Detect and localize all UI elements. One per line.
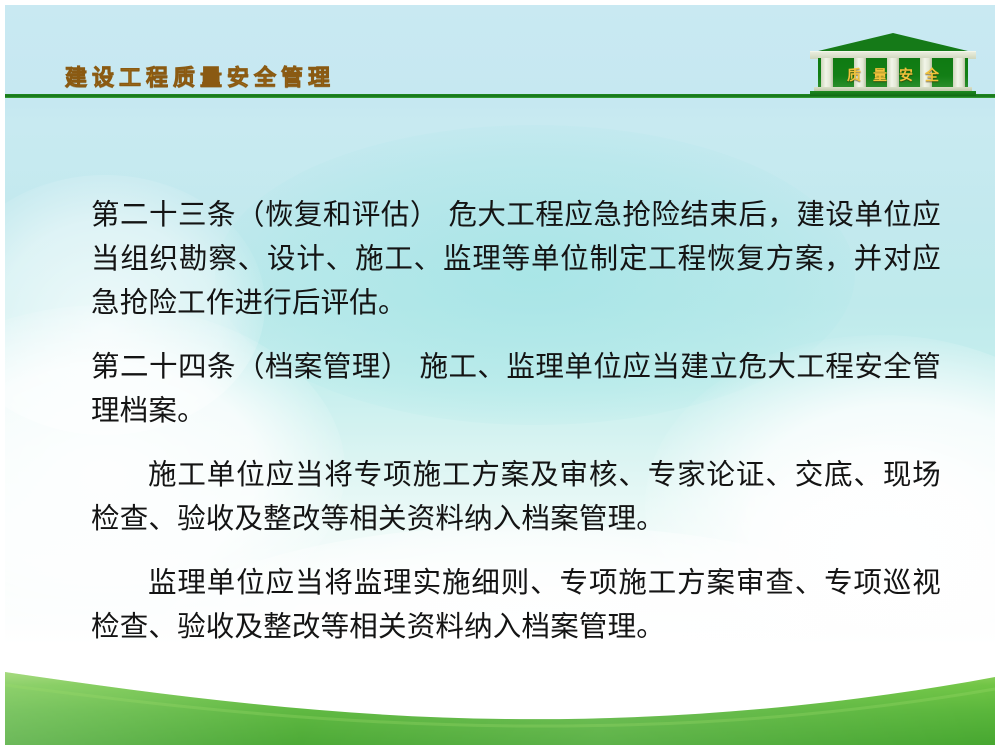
- paragraph-article-24: 第二十四条（档案管理） 施工、监理单位应当建立危大工程安全管理档案。: [91, 345, 941, 433]
- quality-safety-emblem-icon: 质量安全: [810, 33, 976, 97]
- emblem-pillar: [854, 58, 866, 88]
- emblem-pillar: [953, 58, 965, 88]
- slide-canvas: 建设工程质量安全管理 质量安全 第二十三条（恢复和评估） 危大工程应急抢险结: [0, 0, 1000, 750]
- emblem-colonnade: [818, 58, 968, 88]
- emblem-pillar: [920, 58, 932, 88]
- slide-header-title: 建设工程质量安全管理: [65, 67, 335, 89]
- emblem-pillar: [887, 58, 899, 88]
- paragraph-article-24-clause-1: 施工单位应当将专项施工方案及审核、专家论证、交底、现场检查、验收及整改等相关资料…: [91, 453, 941, 541]
- emblem-base: [810, 91, 976, 96]
- paragraph-article-23: 第二十三条（恢复和评估） 危大工程应急抢险结束后，建设单位应当组织勘察、设计、施…: [91, 193, 941, 325]
- slide-background: 建设工程质量安全管理 质量安全 第二十三条（恢复和评估） 危大工程应急抢险结: [5, 5, 995, 745]
- emblem-roof-pediment: [814, 33, 972, 52]
- grass-hill-decor: [5, 625, 995, 745]
- slide-body: 第二十三条（恢复和评估） 危大工程应急抢险结束后，建设单位应当组织勘察、设计、施…: [91, 193, 941, 655]
- emblem-pillar: [821, 58, 833, 88]
- slide-header: 建设工程质量安全管理 质量安全: [5, 5, 995, 105]
